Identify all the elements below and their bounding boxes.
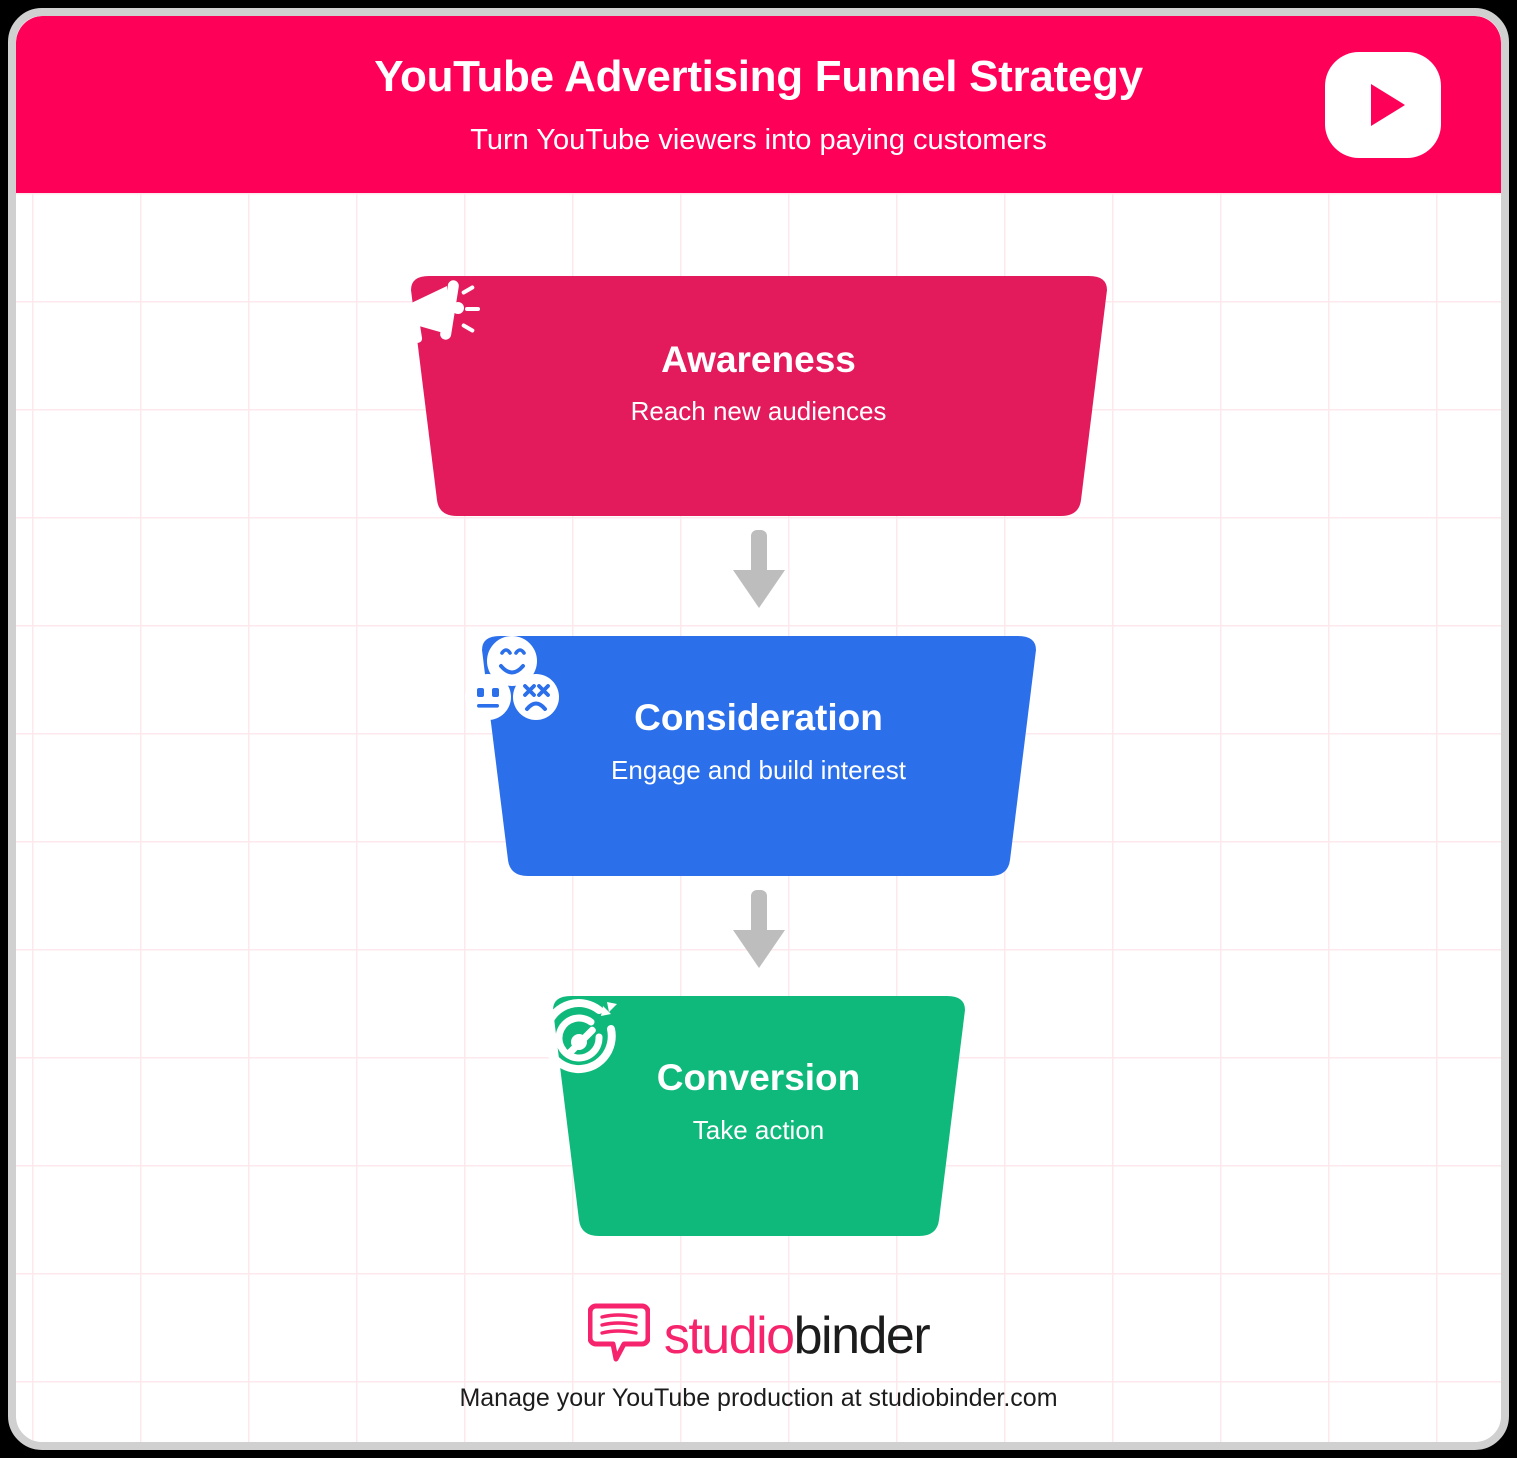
stage-title: Consideration	[634, 699, 883, 736]
stage-title: Conversion	[657, 1059, 861, 1096]
infographic-card: YouTube Advertising Funnel Strategy Turn…	[8, 8, 1509, 1450]
stage-subtitle: Reach new audiences	[631, 398, 887, 424]
stage-subtitle: Engage and build interest	[611, 757, 906, 783]
logo-word-binder: binder	[794, 1307, 930, 1365]
funnel-stage-consideration[interactable]: Consideration Engage and build interest	[464, 636, 1054, 876]
stage-title: Awareness	[661, 341, 856, 378]
stage-subtitle: Take action	[693, 1117, 825, 1143]
card-inner: YouTube Advertising Funnel Strategy Turn…	[16, 16, 1501, 1442]
speech-bubble-icon	[588, 1301, 650, 1370]
funnel-diagram: Awareness Reach new audiences	[16, 193, 1501, 1442]
logo-word-studio: studio	[664, 1307, 794, 1365]
funnel-stage-awareness[interactable]: Awareness Reach new audiences	[389, 276, 1129, 516]
header-banner: YouTube Advertising Funnel Strategy Turn…	[16, 16, 1501, 193]
down-arrow-icon	[729, 890, 789, 972]
logo-wordmark: studiobinder	[664, 1310, 929, 1362]
footer-note: Manage your YouTube production at studio…	[16, 1385, 1501, 1413]
funnel-stage-conversion[interactable]: Conversion Take action	[539, 996, 979, 1236]
page-title: YouTube Advertising Funnel Strategy	[16, 54, 1501, 100]
down-arrow-icon	[729, 530, 789, 612]
youtube-play-icon	[1325, 52, 1441, 158]
page-subtitle: Turn YouTube viewers into paying custome…	[16, 125, 1501, 157]
studiobinder-logo[interactable]: studiobinder	[16, 1301, 1501, 1370]
